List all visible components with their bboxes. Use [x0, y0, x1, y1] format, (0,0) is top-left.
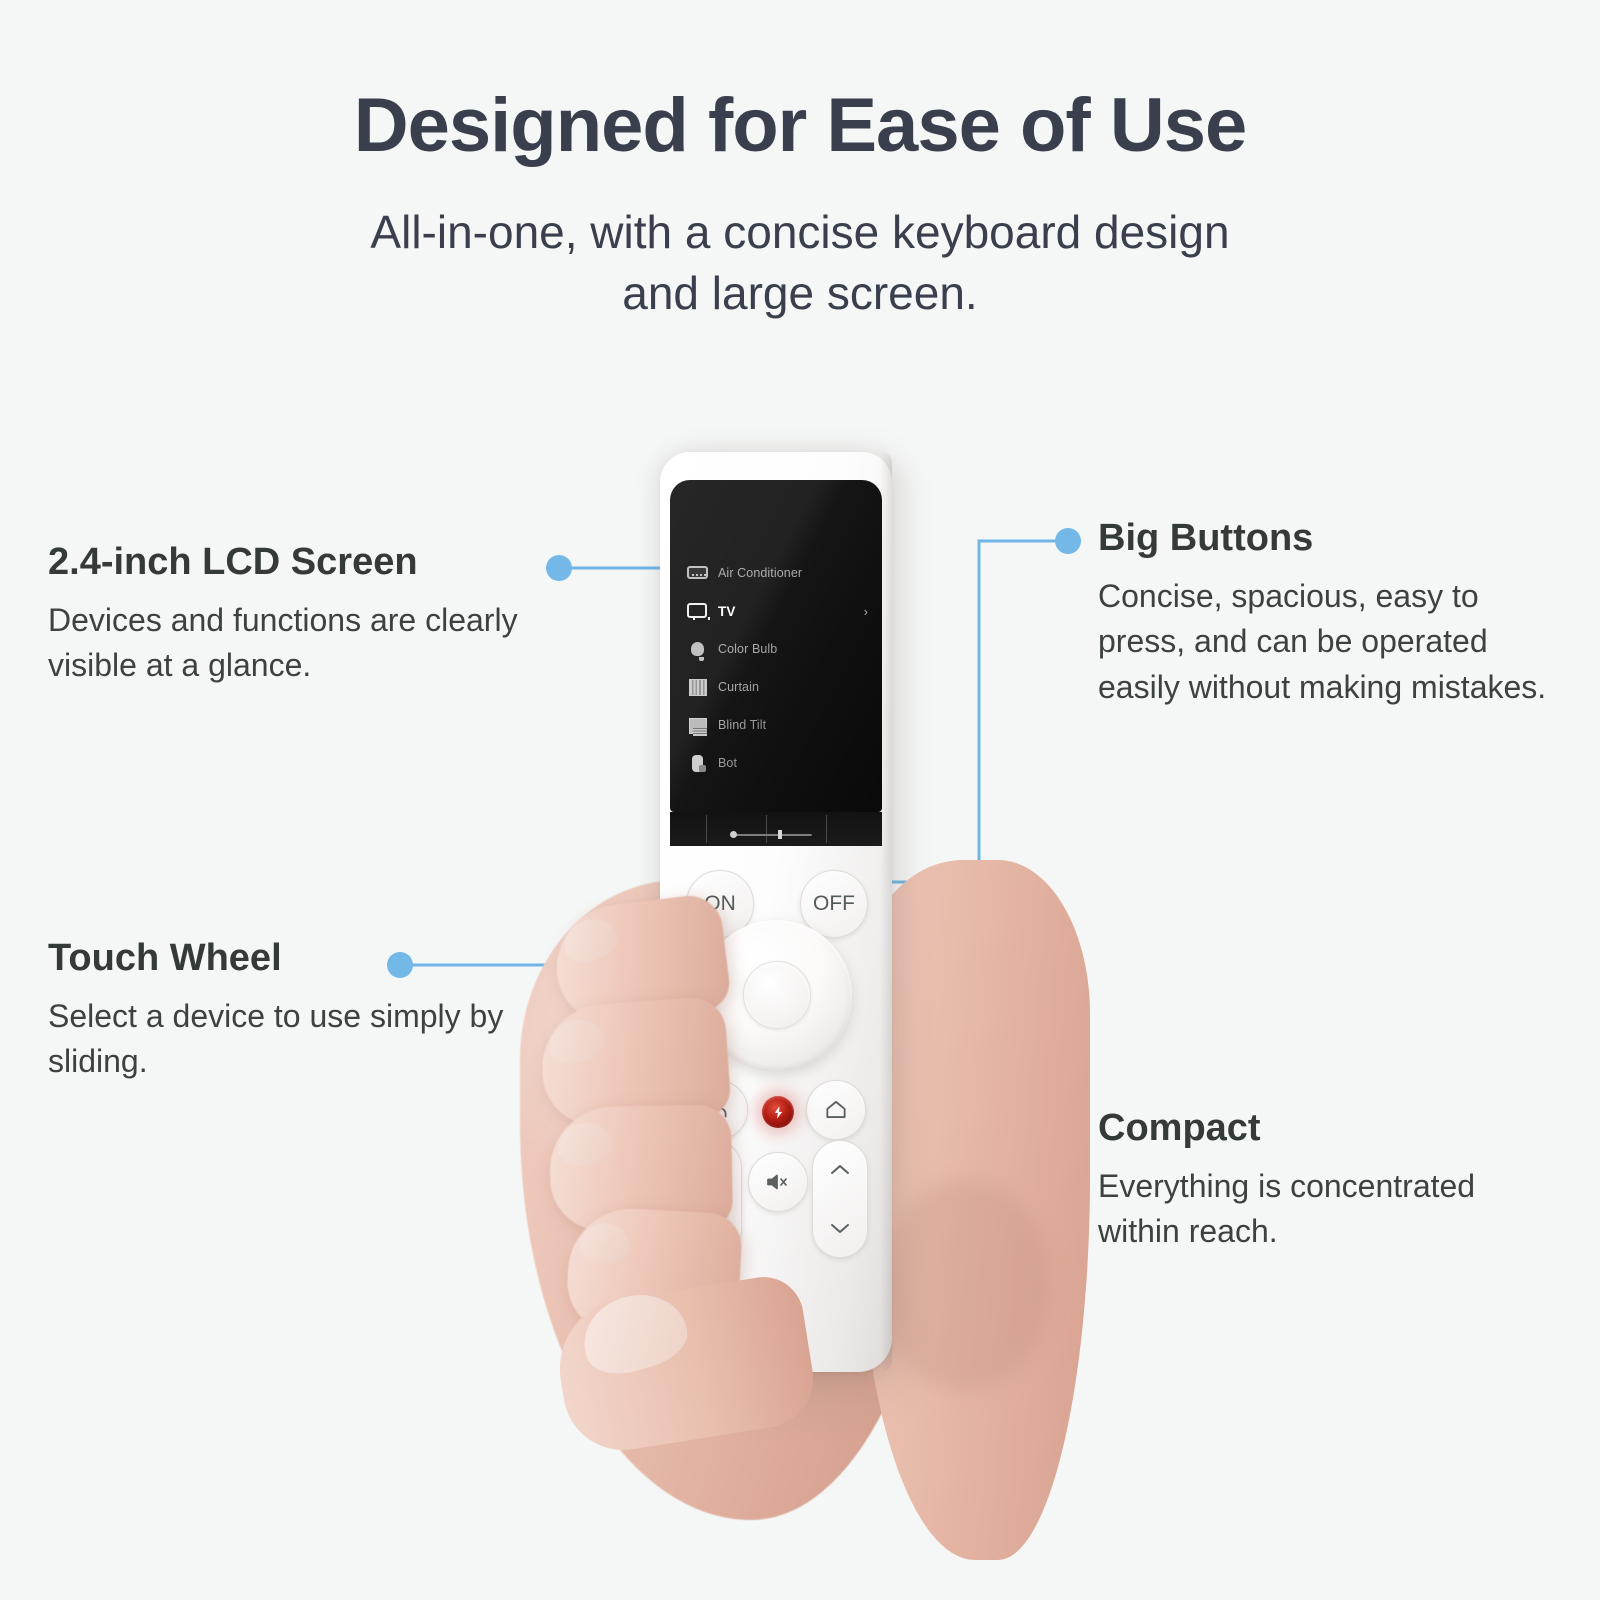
- tv-icon: [687, 601, 709, 621]
- channel-rocker[interactable]: [812, 1140, 868, 1258]
- callout-lcd-screen-body: Devices and functions are clearly visibl…: [48, 598, 568, 689]
- chevron-right-icon: ›: [864, 604, 868, 619]
- device-label: Bot: [718, 756, 737, 770]
- curtain-icon: [687, 677, 709, 697]
- lcd-screen[interactable]: Air Conditioner TV › Color Bulb Curtain: [670, 480, 882, 812]
- soft-key-bar[interactable]: [670, 812, 882, 846]
- soft-key-slider-track[interactable]: [734, 834, 812, 836]
- blind-icon: [687, 715, 709, 735]
- connector-dot-big-buttons: [1055, 528, 1081, 554]
- chevron-down-icon[interactable]: [827, 1220, 853, 1236]
- device-label: Color Bulb: [718, 642, 777, 656]
- touch-wheel-center-button[interactable]: [743, 961, 811, 1029]
- device-label: Air Conditioner: [718, 566, 802, 580]
- off-button-label: OFF: [813, 892, 855, 916]
- mute-icon: [764, 1169, 792, 1195]
- device-label: TV: [718, 604, 735, 619]
- home-icon: [823, 1097, 849, 1123]
- fingernail: [579, 1223, 630, 1264]
- callout-lcd-screen: 2.4-inch LCD Screen Devices and function…: [48, 542, 568, 689]
- home-button[interactable]: [806, 1080, 866, 1140]
- connector-line-big-buttons: [872, 541, 1060, 882]
- callout-touch-wheel-body: Select a device to use simply by sliding…: [48, 994, 518, 1085]
- callout-touch-wheel: Touch Wheel Select a device to use simpl…: [48, 938, 518, 1085]
- device-label: Curtain: [718, 680, 759, 694]
- callout-big-buttons-body: Concise, spacious, easy to press, and ca…: [1098, 574, 1548, 710]
- callout-compact-body: Everything is concentrated within reach.: [1098, 1164, 1498, 1255]
- device-list-item-blind-tilt[interactable]: Blind Tilt: [670, 706, 882, 744]
- chevron-up-icon[interactable]: [827, 1162, 853, 1178]
- device-list-item-curtain[interactable]: Curtain: [670, 668, 882, 706]
- device-list-item-color-bulb[interactable]: Color Bulb: [670, 630, 882, 668]
- callout-compact: Compact Everything is concentrated withi…: [1098, 1108, 1498, 1255]
- mute-button[interactable]: [748, 1152, 808, 1212]
- bulb-icon: [687, 639, 709, 659]
- device-list-item-air-conditioner[interactable]: Air Conditioner: [670, 554, 882, 592]
- device-label: Blind Tilt: [718, 718, 766, 732]
- callout-touch-wheel-title: Touch Wheel: [48, 938, 518, 980]
- switchbot-logo-icon: [771, 1105, 786, 1120]
- bot-icon: [687, 753, 709, 773]
- air-conditioner-icon: [687, 563, 709, 583]
- device-list-item-tv[interactable]: TV ›: [670, 592, 882, 630]
- device-list[interactable]: Air Conditioner TV › Color Bulb Curtain: [670, 554, 882, 782]
- led-indicator: [762, 1096, 794, 1128]
- callout-compact-title: Compact: [1098, 1108, 1498, 1150]
- callout-big-buttons: Big Buttons Concise, spacious, easy to p…: [1098, 518, 1548, 710]
- device-list-item-bot[interactable]: Bot: [670, 744, 882, 782]
- soft-key-slider-knob[interactable]: [730, 831, 737, 838]
- callout-lcd-screen-title: 2.4-inch LCD Screen: [48, 542, 568, 584]
- callout-big-buttons-title: Big Buttons: [1098, 518, 1548, 560]
- soft-key-slider-marker: [778, 830, 782, 839]
